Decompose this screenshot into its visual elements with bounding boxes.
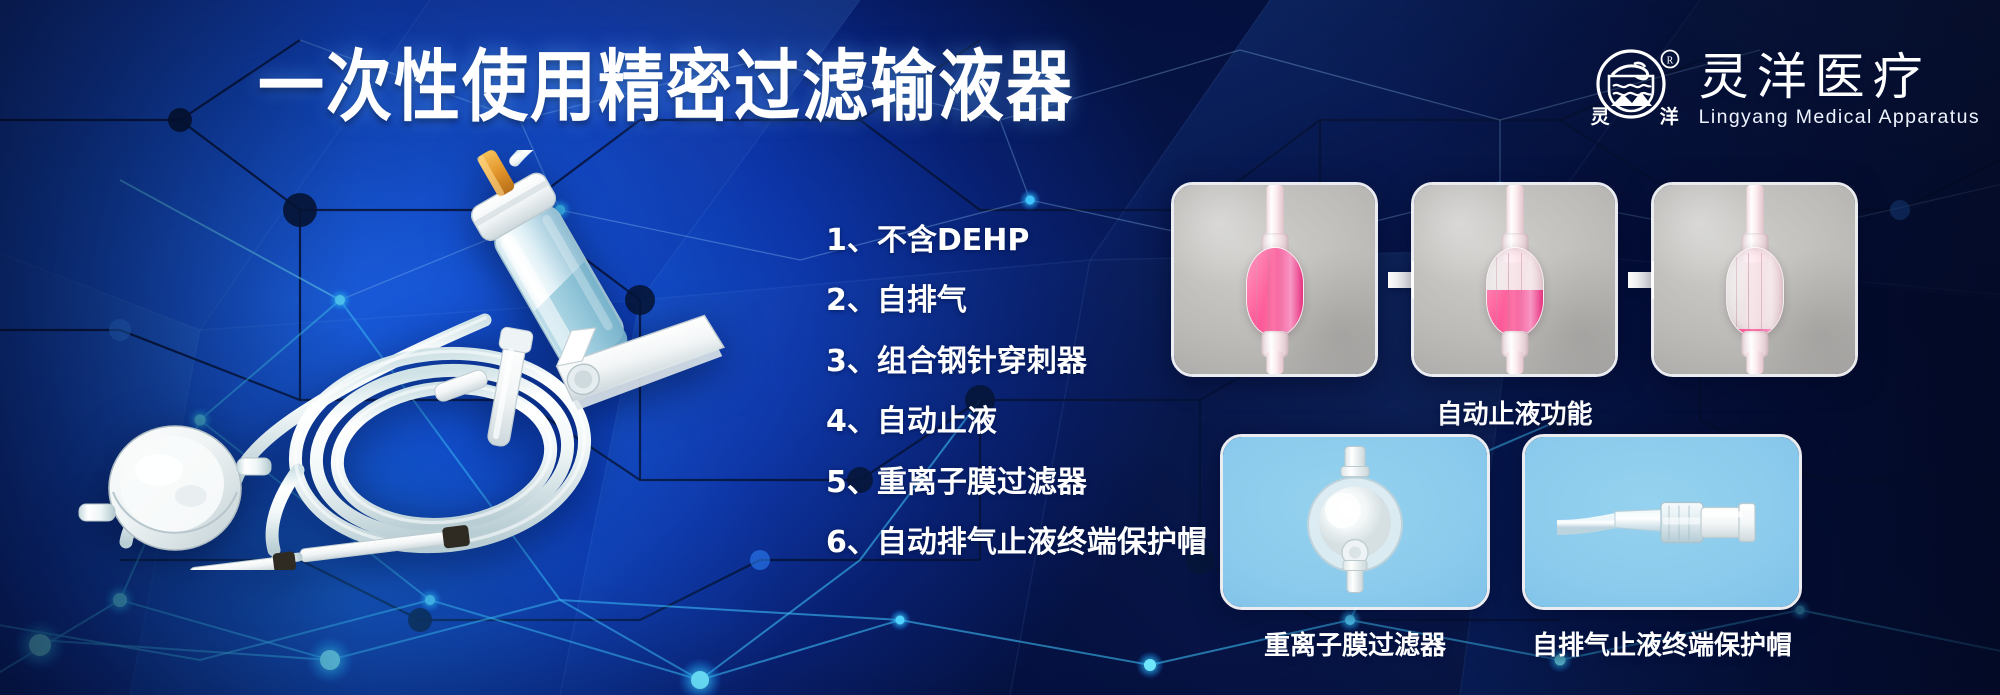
- drip-chamber-full: [1246, 247, 1304, 337]
- heavy-ion-membrane-filter-image: [1295, 445, 1415, 600]
- terminal-protective-cap-image: [1557, 488, 1767, 563]
- seal-subscript-left: 灵: [1591, 102, 1610, 129]
- feature-list: 1、不含DEHP 2、自排气 3、组合钢针穿刺器 4、自动止液 5、重离子膜过滤…: [826, 222, 1207, 562]
- seal-subscript: 灵 洋: [1589, 102, 1681, 129]
- feature-item-6: 6、自动排气止液终端保护帽: [826, 524, 1207, 562]
- svg-text:R: R: [1666, 56, 1673, 67]
- caption-protective-cap: 自排气止液终端保护帽: [1492, 625, 1832, 662]
- feature-item-2: 2、自排气: [826, 282, 1207, 320]
- drip-chamber-partial: [1486, 247, 1544, 337]
- auto-stop-photo-step-2: [1411, 182, 1618, 377]
- auto-stop-photo-step-3: [1651, 182, 1858, 377]
- auto-stop-photo-step-1: [1171, 182, 1378, 377]
- product-photo-infusion-set: [30, 150, 790, 570]
- caption-heavy-ion-filter: 重离子膜过滤器: [1220, 625, 1490, 662]
- filter-photo-panel: [1220, 434, 1490, 610]
- seal-subscript-right: 洋: [1660, 102, 1679, 129]
- brand-name-en: Lingyang Medical Apparatus: [1699, 106, 1980, 129]
- brand-logo: R 灵 洋 灵洋医疗 Lingyang Medical Apparatus: [1589, 42, 1980, 138]
- drip-chamber-empty: [1726, 247, 1784, 337]
- page-title: 一次性使用精密过滤输液器: [258, 46, 1074, 129]
- feature-item-3: 3、组合钢针穿刺器: [826, 343, 1207, 381]
- feature-item-5: 5、重离子膜过滤器: [826, 464, 1207, 502]
- banner-root: 一次性使用精密过滤输液器 R: [0, 0, 2000, 695]
- protective-cap-photo-panel: [1522, 434, 1802, 610]
- caption-auto-stop-function: 自动止液功能: [1171, 394, 1858, 431]
- feature-item-4: 4、自动止液: [826, 403, 1207, 441]
- feature-item-1: 1、不含DEHP: [826, 222, 1207, 260]
- brand-name-cn: 灵洋医疗: [1699, 51, 1980, 104]
- lingyang-seal-icon: R 灵 洋: [1589, 42, 1681, 138]
